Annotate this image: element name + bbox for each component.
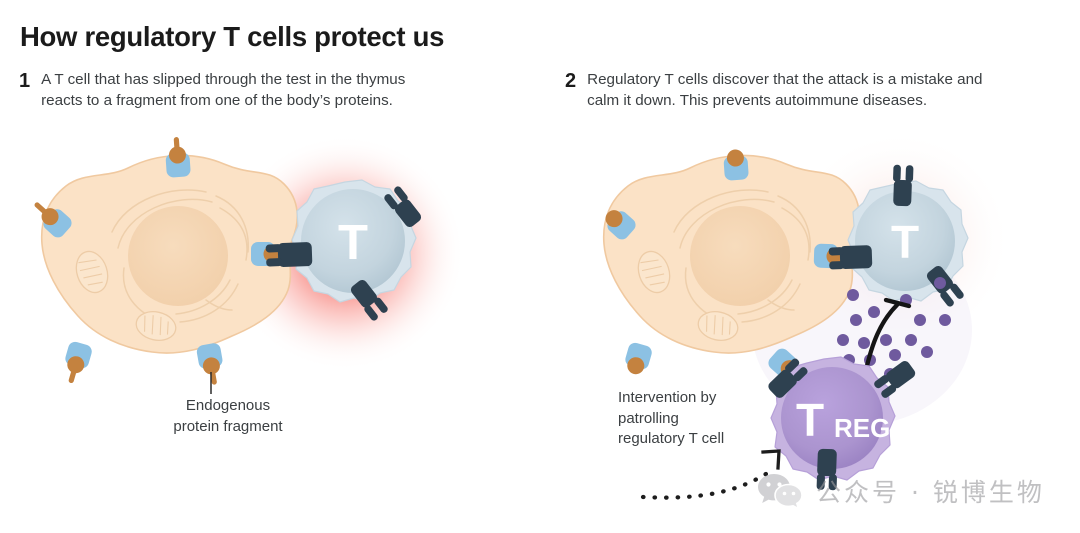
panel-1-illustration: T (27, 135, 465, 394)
treg-label-sub: REG (834, 413, 890, 443)
apc-nucleus-right (690, 206, 790, 306)
step-2-text: Regulatory T cells discover that the att… (587, 70, 982, 111)
page-title: How regulatory T cells protect us (20, 21, 444, 53)
watermark: 公众号 · 锐博生物 (757, 472, 1045, 510)
step-2: 2 Regulatory T cells discover that the a… (565, 70, 982, 111)
t-cell-left-label: T (338, 216, 368, 270)
mhc-peptide-complex-top (164, 136, 191, 178)
step-1-text: A T cell that has slipped through the te… (41, 70, 405, 111)
mhc-peptide-complex-bottomleft (59, 340, 93, 386)
wechat-icon (757, 472, 803, 510)
mhc-complex-right-top (723, 149, 749, 181)
step-1-number: 1 (19, 70, 30, 92)
endogenous-fragment-label: Endogenous protein fragment (158, 396, 298, 437)
figure-root: T (0, 0, 1080, 533)
step-2-number: 2 (565, 70, 576, 92)
watermark-text: 公众号 · 锐博生物 (816, 473, 1045, 509)
mhc-complex-right-bottomleft (622, 341, 653, 377)
apc-nucleus (128, 206, 228, 306)
intervention-label: Intervention by patrolling regulatory T … (618, 388, 808, 450)
t-cell-right-label: T (891, 216, 919, 268)
step-1: 1 A T cell that has slipped through the … (19, 70, 405, 111)
